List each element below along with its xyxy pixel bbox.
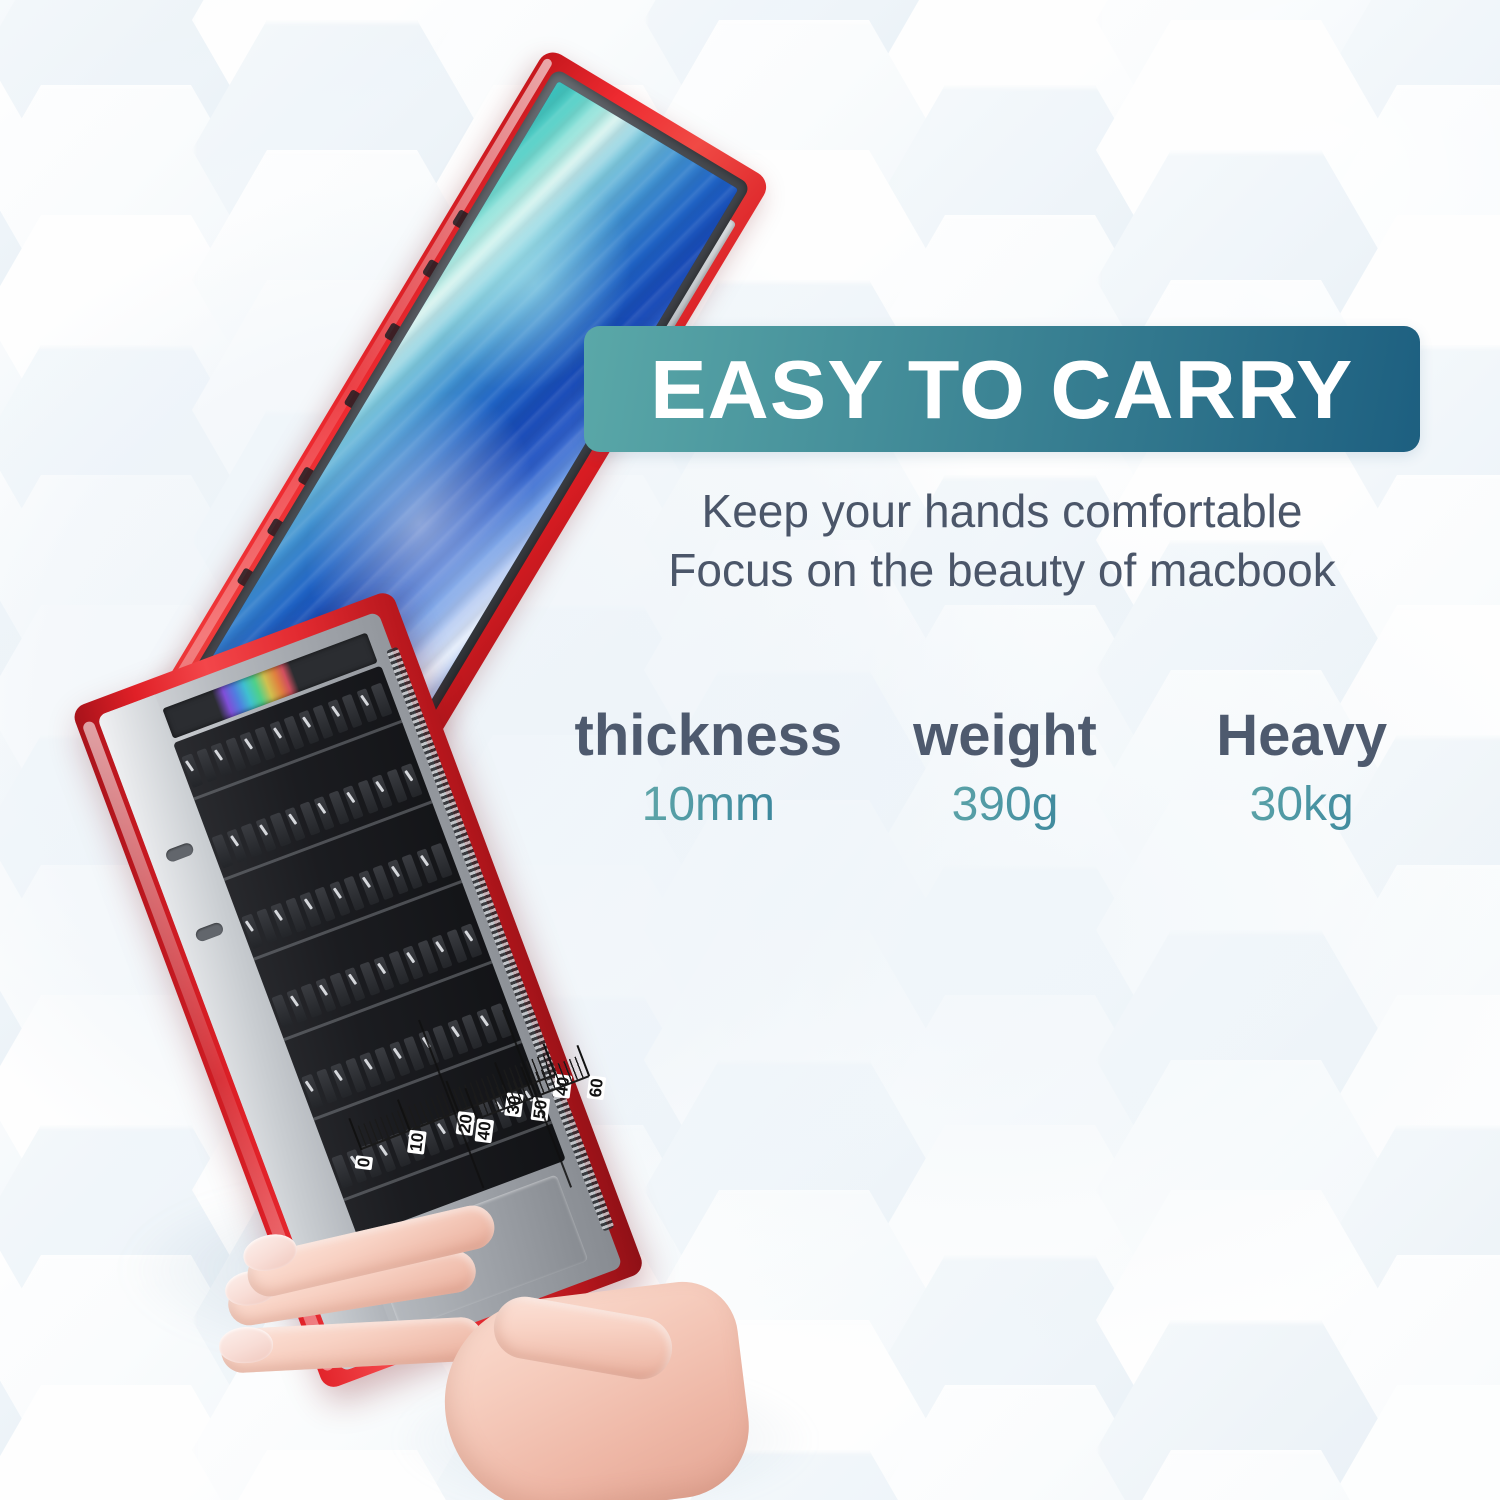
spec-value: 30kg: [1153, 779, 1450, 832]
key-legend: [214, 749, 223, 761]
key-legend: [334, 1070, 343, 1082]
key-legend: [302, 717, 311, 729]
key-legend: [375, 780, 384, 792]
key-legend: [495, 1101, 504, 1113]
key-legend: [350, 1155, 359, 1167]
key-legend: [273, 728, 282, 740]
key-legend: [360, 695, 369, 707]
spec-label: thickness: [560, 706, 857, 767]
key-legend: [437, 1123, 446, 1135]
spec-row: thickness 10mm weight 390g Heavy 30kg: [560, 706, 1450, 832]
ruler-major-tick: [576, 1045, 590, 1077]
key-legend: [259, 824, 268, 836]
key-legend: [274, 910, 283, 922]
spec-item-heavy: Heavy 30kg: [1153, 706, 1450, 832]
subtitle-block: Keep your hands comfortable Focus on the…: [584, 482, 1420, 600]
key-legend: [333, 888, 342, 900]
product-marketing-banner: 010203040 405060 EASY TO CARRY Keep your…: [0, 0, 1500, 1500]
spec-value: 390g: [857, 779, 1154, 832]
key-legend: [303, 899, 312, 911]
spec-item-thickness: thickness 10mm: [560, 706, 857, 832]
key-legend: [435, 941, 444, 953]
key-legend: [480, 1015, 489, 1027]
key-legend: [379, 1144, 388, 1156]
key-legend: [331, 706, 340, 718]
key-legend: [404, 770, 413, 782]
spec-value: 10mm: [560, 779, 857, 832]
key-legend: [244, 738, 253, 750]
key-legend: [524, 1090, 533, 1102]
headline-banner: EASY TO CARRY: [584, 326, 1420, 452]
key-legend: [420, 855, 429, 867]
key-legend: [319, 984, 328, 996]
key-legend: [245, 920, 254, 932]
key-legend: [346, 791, 355, 803]
key-legend: [185, 760, 194, 772]
headline-text: EASY TO CARRY: [650, 348, 1353, 431]
key-legend: [408, 1134, 417, 1146]
key-legend: [348, 973, 357, 985]
ruler-tick-label: 60: [587, 1075, 607, 1100]
subtitle-line-2: Focus on the beauty of macbook: [584, 541, 1420, 600]
spec-label: weight: [857, 706, 1154, 767]
key-legend: [466, 1112, 475, 1124]
key-legend: [464, 930, 473, 942]
key-legend: [377, 962, 386, 974]
key-legend: [288, 813, 297, 825]
hand: [215, 1215, 735, 1500]
spec-label: Heavy: [1153, 706, 1450, 767]
key-legend: [392, 1048, 401, 1060]
key-legend: [362, 877, 371, 889]
key-legend: [305, 1081, 314, 1093]
key-legend: [451, 1026, 460, 1038]
key-legend: [290, 995, 299, 1007]
key-legend: [230, 835, 239, 847]
key-legend: [317, 802, 326, 814]
key-legend: [406, 952, 415, 964]
spec-item-weight: weight 390g: [857, 706, 1154, 832]
key-legend: [391, 866, 400, 878]
subtitle-line-1: Keep your hands comfortable: [584, 482, 1420, 541]
key-legend: [363, 1059, 372, 1071]
